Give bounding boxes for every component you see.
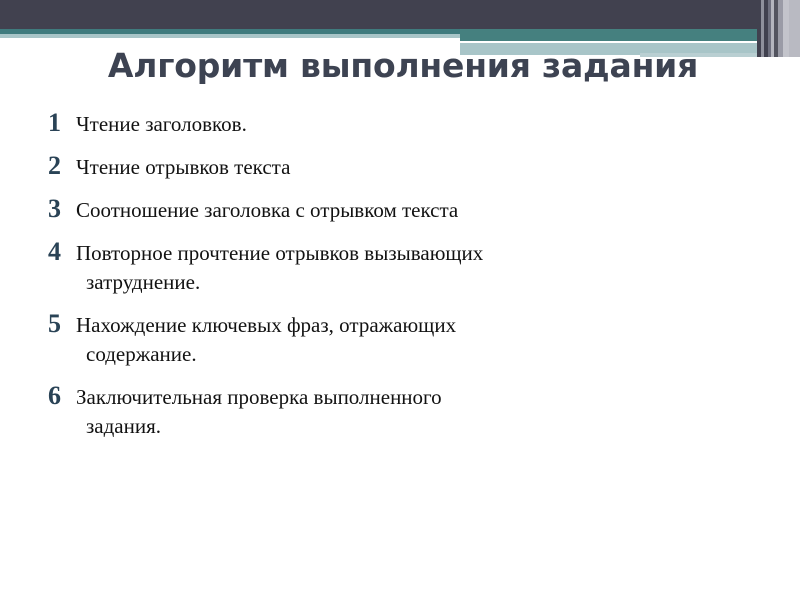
list-item-line: Заключительная проверка выполненного: [76, 385, 442, 409]
page-title: Алгоритм выполнения задания: [48, 46, 758, 86]
list-item-line: задания.: [76, 412, 748, 441]
list-item-text: Чтение заголовков.: [74, 108, 748, 139]
vertical-stripe-group: [757, 0, 800, 57]
list-item: 2Чтение отрывков текста: [48, 151, 748, 182]
list-item: 3Соотношение заголовка с отрывком текста: [48, 194, 748, 225]
dark-header-band: [0, 0, 800, 29]
list-item-line: содержание.: [76, 340, 748, 369]
list-item-line: затруднение.: [76, 268, 748, 297]
stripe-9: [789, 0, 800, 57]
slide-canvas: Алгоритм выполнения задания 1Чтение заго…: [0, 0, 800, 600]
list-item: 6Заключительная проверка выполненногозад…: [48, 381, 748, 441]
list-item-line: Соотношение заголовка с отрывком текста: [76, 198, 458, 222]
list-item-line: Повторное прочтение отрывков вызывающих: [76, 241, 483, 265]
list-item-number: 1: [48, 108, 74, 138]
list-item-number: 3: [48, 194, 74, 224]
list-item-text: Повторное прочтение отрывков вызывающихз…: [74, 237, 748, 297]
list-item-number: 4: [48, 237, 74, 267]
list-item: 4Повторное прочтение отрывков вызывающих…: [48, 237, 748, 297]
list-item: 1Чтение заголовков.: [48, 108, 748, 139]
list-item-line: Чтение отрывков текста: [76, 155, 290, 179]
list-item-text: Соотношение заголовка с отрывком текста: [74, 194, 748, 225]
list-item-line: Чтение заголовков.: [76, 112, 247, 136]
list-item-text: Нахождение ключевых фраз, отражающихсоде…: [74, 309, 748, 369]
list-item-text: Чтение отрывков текста: [74, 151, 748, 182]
list-item-number: 6: [48, 381, 74, 411]
list-item-text: Заключительная проверка выполненногозада…: [74, 381, 748, 441]
list-item-number: 2: [48, 151, 74, 181]
list-item-number: 5: [48, 309, 74, 339]
list-item: 5Нахождение ключевых фраз, отражающихсод…: [48, 309, 748, 369]
numbered-list: 1Чтение заголовков.2Чтение отрывков текс…: [48, 108, 748, 453]
list-item-line: Нахождение ключевых фраз, отражающих: [76, 313, 456, 337]
